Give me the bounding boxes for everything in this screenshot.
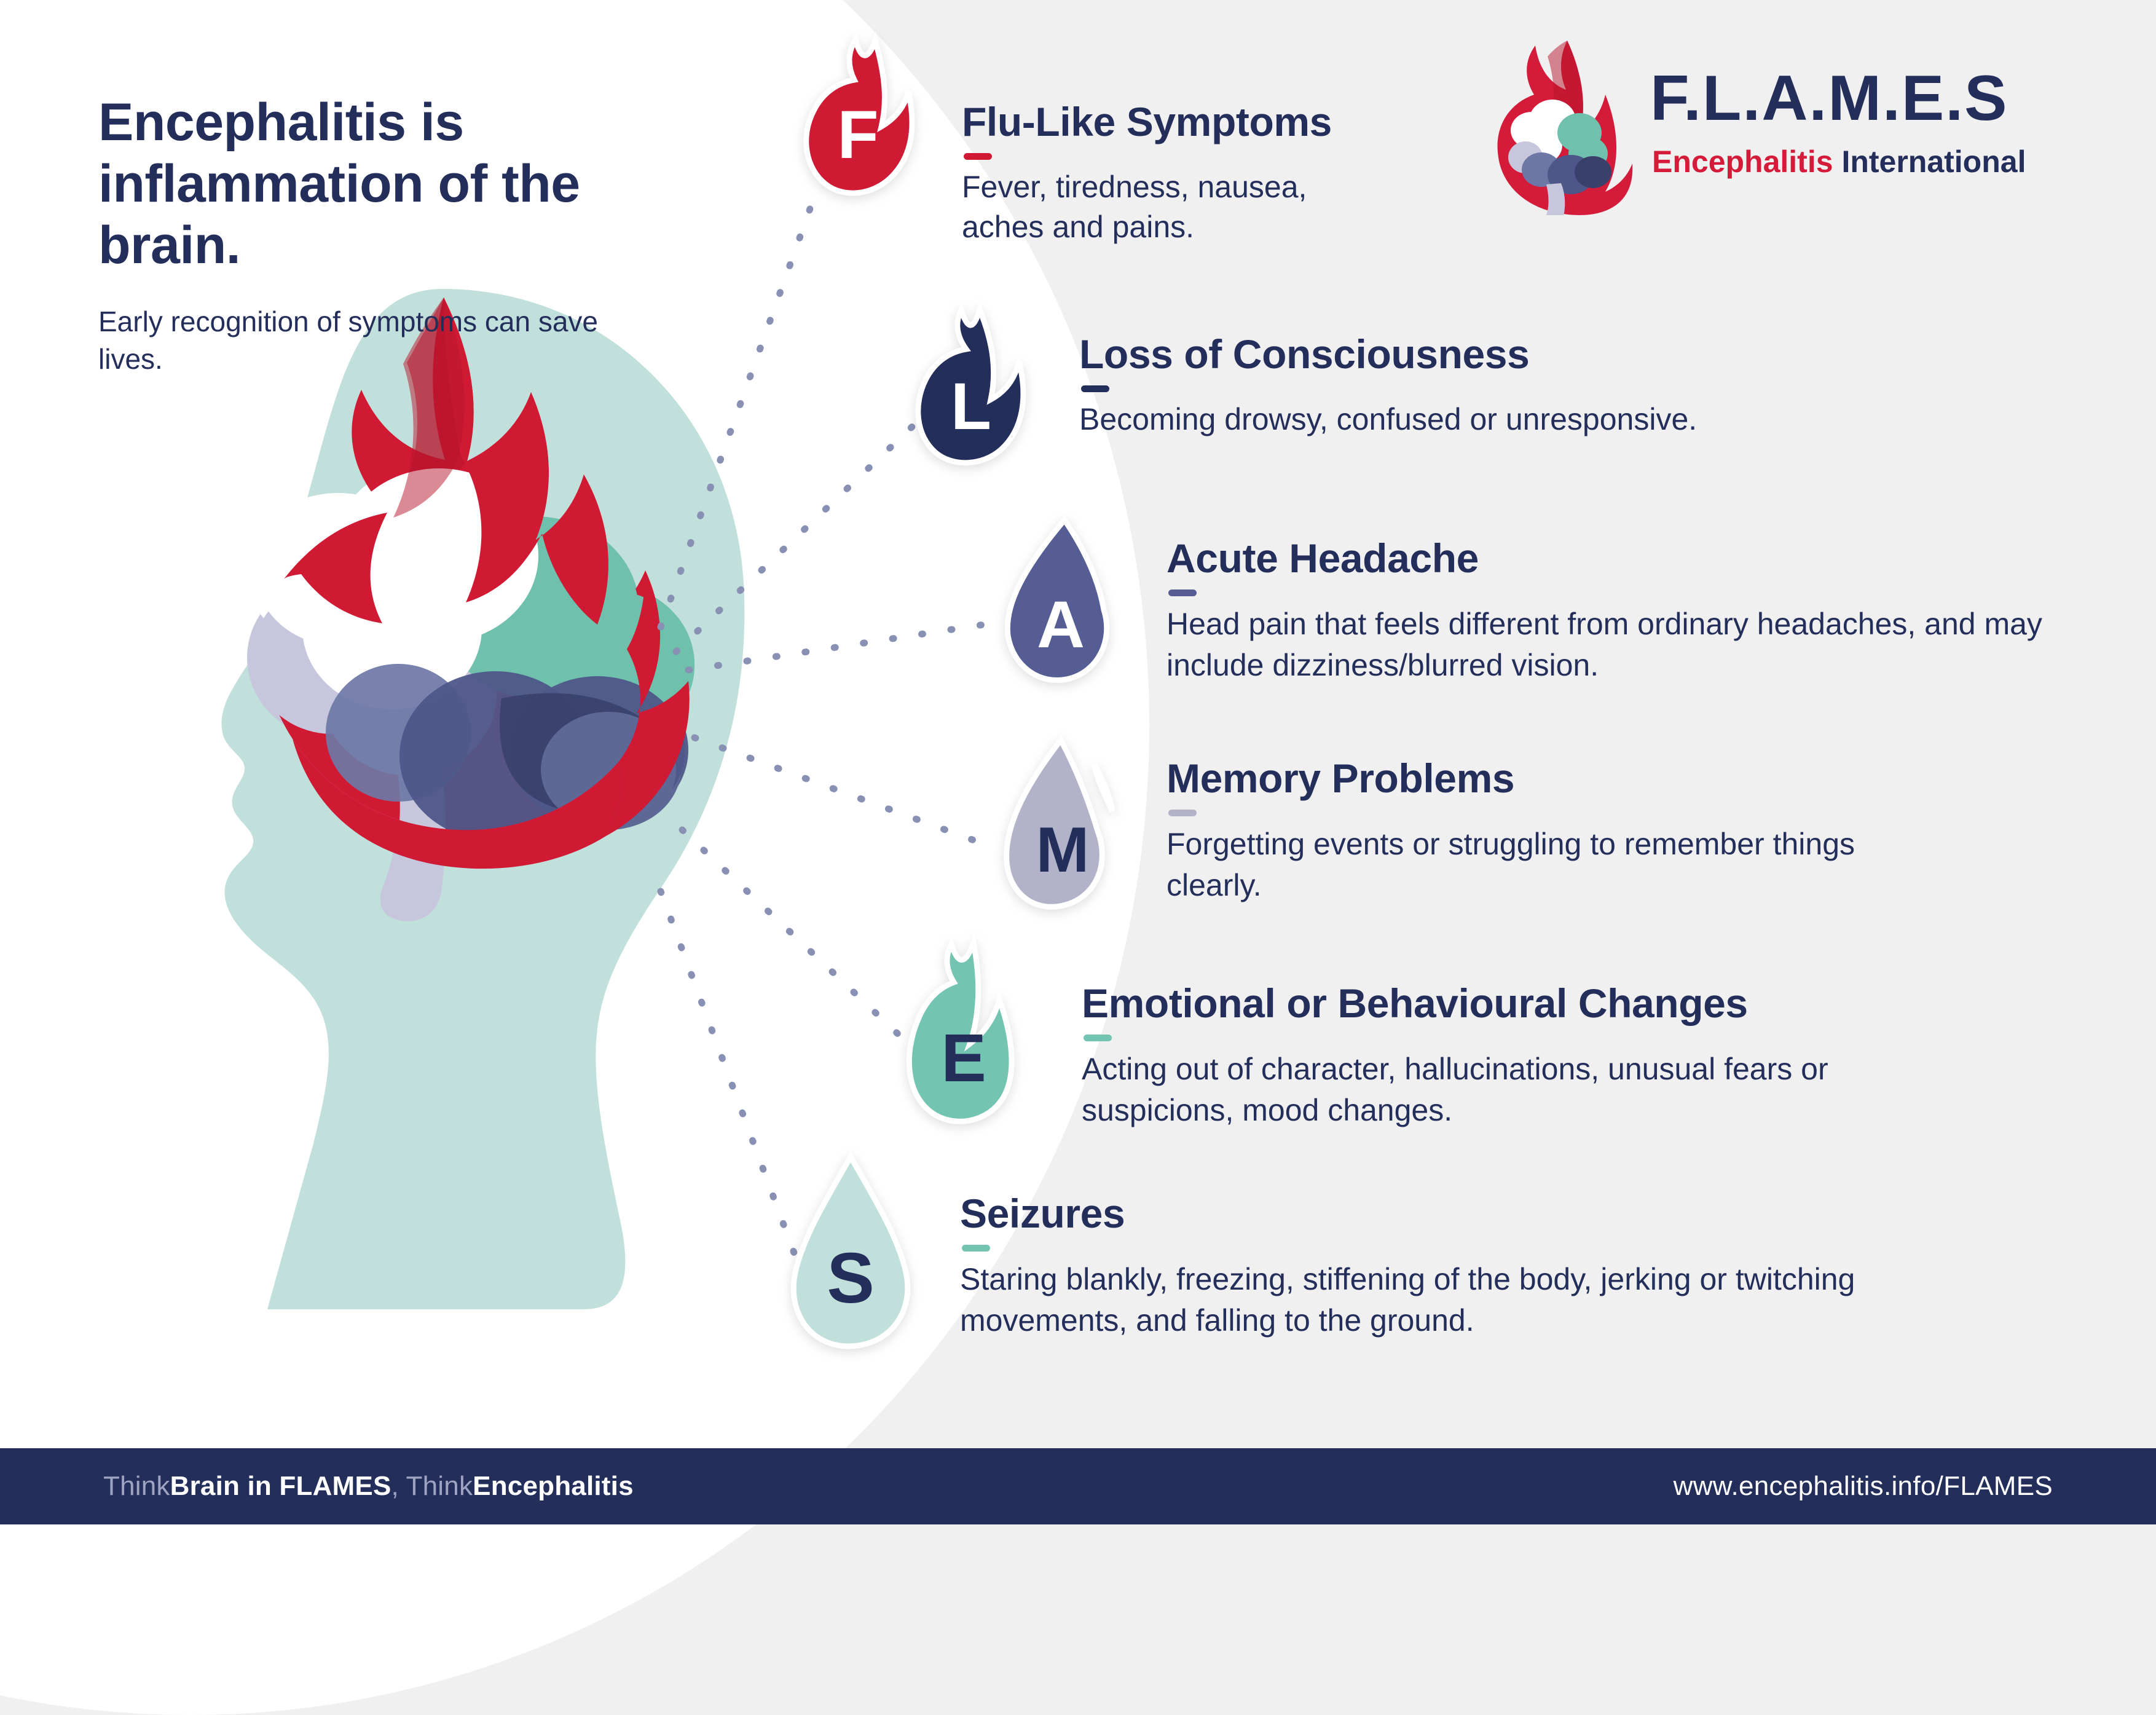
drop-badge-a[interactable]: A	[1005, 518, 1116, 684]
symptom-rule-l	[1081, 385, 1109, 392]
footer-bold-2: Encephalitis	[473, 1471, 634, 1502]
symptom-row-e: Emotional or Behavioural Changes Acting …	[1082, 980, 2040, 1131]
symptom-title-f: Flu-Like Symptoms	[962, 98, 1576, 145]
drop-badge-l[interactable]: L	[916, 307, 1026, 467]
drop-letter-m: M	[1004, 738, 1121, 910]
logo-subtitle-spacer	[1833, 144, 1842, 179]
symptom-rule-a	[1168, 589, 1197, 596]
drop-badge-s[interactable]: S	[784, 1153, 917, 1350]
symptom-row-s: Seizures Staring blankly, freezing, stif…	[960, 1190, 1956, 1341]
symptom-title-m: Memory Problems	[1167, 755, 2027, 802]
drop-badge-m[interactable]: M	[1004, 738, 1121, 910]
footer-tagline: Think Brain in FLAMES, Think Encephaliti…	[103, 1448, 634, 1524]
symptom-row-a: Acute Headache Head pain that feels diff…	[1167, 535, 2076, 686]
footer-bar: Think Brain in FLAMES, Think Encephaliti…	[0, 1448, 2156, 1524]
infographic-canvas: F L A M E S Flu-Like Symptoms	[0, 0, 2156, 1524]
drop-letter-e: E	[902, 940, 1025, 1125]
footer-think-2: , Think	[391, 1471, 473, 1502]
drop-letter-f: F	[803, 37, 913, 197]
page-title: Encephalitis is inflammation of the brai…	[98, 92, 639, 276]
symptom-rule-s	[962, 1245, 990, 1252]
symptom-title-e: Emotional or Behavioural Changes	[1082, 980, 2040, 1027]
symptom-row-m: Memory Problems Forgetting events or str…	[1167, 755, 2027, 906]
drop-badge-f[interactable]: F	[803, 37, 913, 197]
symptom-desc-m: Forgetting events or struggling to remem…	[1167, 824, 1935, 906]
logo-wordmark: F.L.A.M.E.S	[1650, 66, 2008, 130]
symptom-title-l: Loss of Consciousness	[1079, 331, 1940, 377]
symptom-title-s: Seizures	[960, 1190, 1956, 1237]
symptom-title-a: Acute Headache	[1167, 535, 2076, 582]
symptom-desc-s: Staring blankly, freezing, stiffening of…	[960, 1259, 1919, 1341]
headline-block: Encephalitis is inflammation of the brai…	[98, 92, 639, 379]
symptom-row-l: Loss of Consciousness Becoming drowsy, c…	[1079, 331, 1940, 440]
symptom-desc-e: Acting out of character, hallucinations,…	[1082, 1049, 1954, 1131]
logo-subtitle-secondary: International	[1841, 144, 2026, 179]
symptom-rule-m	[1168, 810, 1197, 816]
logo-subtitle-primary: Encephalitis	[1652, 144, 1833, 179]
drop-letter-l: L	[916, 307, 1026, 467]
drop-letter-a: A	[1005, 518, 1116, 684]
logo-subtitle: Encephalitis International	[1652, 146, 2026, 177]
page-subtitle: Early recognition of symptoms can save l…	[98, 303, 639, 378]
head-brain-illustration	[68, 264, 793, 1432]
footer-url[interactable]: www.encephalitis.info/FLAMES	[1674, 1448, 2053, 1524]
flames-logo[interactable]: F.L.A.M.E.S Encephalitis International	[1493, 37, 2108, 215]
brain-in-flames-logo-icon	[1493, 37, 1635, 215]
symptom-desc-l: Becoming drowsy, confused or unresponsiv…	[1079, 400, 1878, 440]
symptom-rule-f	[964, 153, 992, 160]
symptom-rule-e	[1084, 1035, 1112, 1041]
symptom-row-f: Flu-Like Symptoms Fever, tiredness, naus…	[962, 98, 1576, 247]
symptom-desc-a: Head pain that feels different from ordi…	[1167, 604, 2052, 686]
footer-think-1: Think	[103, 1471, 170, 1502]
drop-badge-e[interactable]: E	[902, 940, 1025, 1125]
footer-bold-1: Brain in FLAMES	[170, 1471, 391, 1502]
drop-letter-s: S	[784, 1153, 917, 1350]
symptom-desc-f: Fever, tiredness, nausea, aches and pain…	[962, 167, 1392, 247]
